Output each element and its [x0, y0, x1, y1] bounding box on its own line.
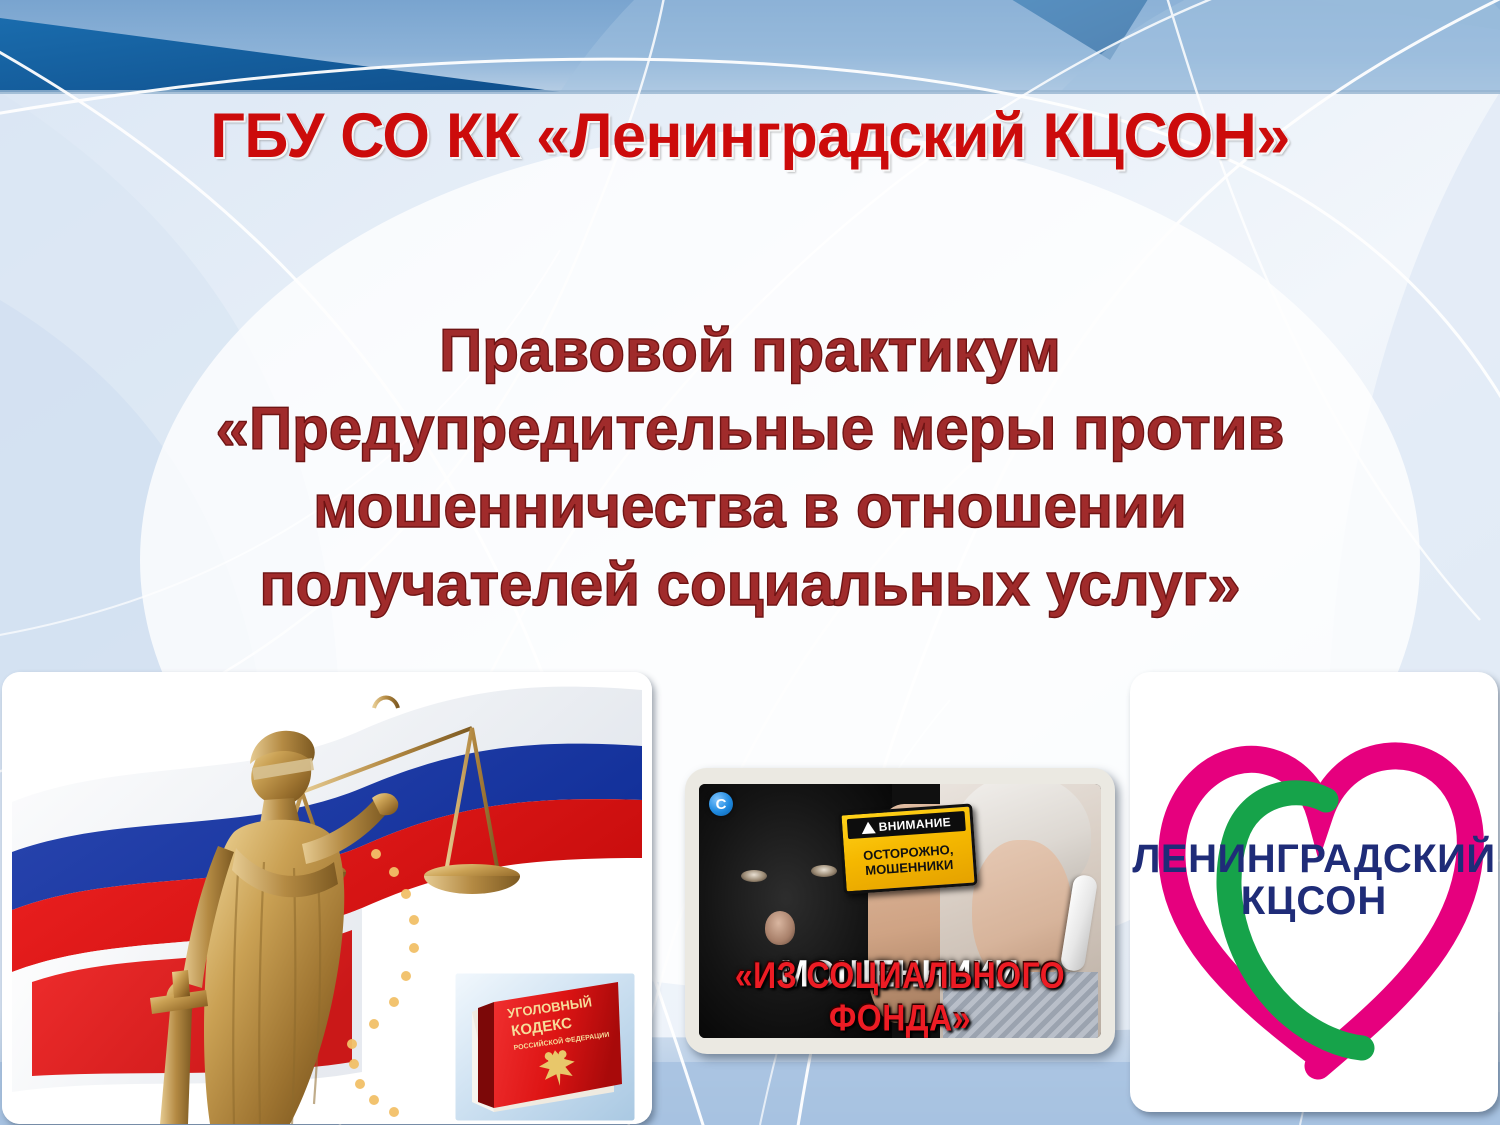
warning-header-text: ВНИМАНИЕ [878, 815, 951, 834]
fraud-video-thumbnail: ВНИМАНИЕ ОСТОРОЖНО, МОШЕННИКИ C МОШЕННИК… [699, 784, 1101, 1038]
logo-text-line-1: ЛЕНИНГРАДСКИЙ [1130, 838, 1498, 880]
warning-sign-body: ОСТОРОЖНО, МОШЕННИКИ [847, 835, 970, 887]
logo-text: ЛЕНИНГРАДСКИЙ КЦСОН [1130, 838, 1498, 923]
image-fraud-warning: ВНИМАНИЕ ОСТОРОЖНО, МОШЕННИКИ C МОШЕННИК… [685, 768, 1115, 1054]
warning-sign: ВНИМАНИЕ ОСТОРОЖНО, МОШЕННИКИ [838, 803, 977, 894]
logo-text-line-2: КЦСОН [1130, 880, 1498, 922]
warning-sign-header: ВНИМАНИЕ [847, 811, 966, 839]
fraud-caption-sub: «ИЗ СОЦИАЛЬНОГО ФОНДА» [699, 954, 1101, 1038]
subtitle-line-3: мошенничества в отношении [70, 468, 1430, 546]
justice-illustration: УГОЛОВНЫЙ КОДЕКС РОССИЙСКОЙ ФЕДЕРАЦИИ [2, 672, 652, 1124]
subtitle-line-1: Правовой практикум [70, 312, 1430, 390]
channel-badge-icon: C [709, 792, 733, 816]
warning-triangle-icon [861, 821, 876, 834]
page-title: ГБУ СО КК «Ленинградский КЦСОН» [23, 104, 1478, 168]
subtitle-line-2: «Предупредительные меры против [70, 390, 1430, 468]
image-kcson-logo: ЛЕНИНГРАДСКИЙ КЦСОН [1130, 672, 1498, 1112]
slide-subtitle: Правовой практикум «Предупредительные ме… [70, 312, 1430, 624]
presentation-slide: ГБУ СО КК «Ленинградский КЦСОН» Правовой… [0, 0, 1500, 1125]
image-justice-scales: УГОЛОВНЫЙ КОДЕКС РОССИЙСКОЙ ФЕДЕРАЦИИ [2, 672, 652, 1124]
subtitle-line-4: получателей социальных услуг» [70, 546, 1430, 624]
